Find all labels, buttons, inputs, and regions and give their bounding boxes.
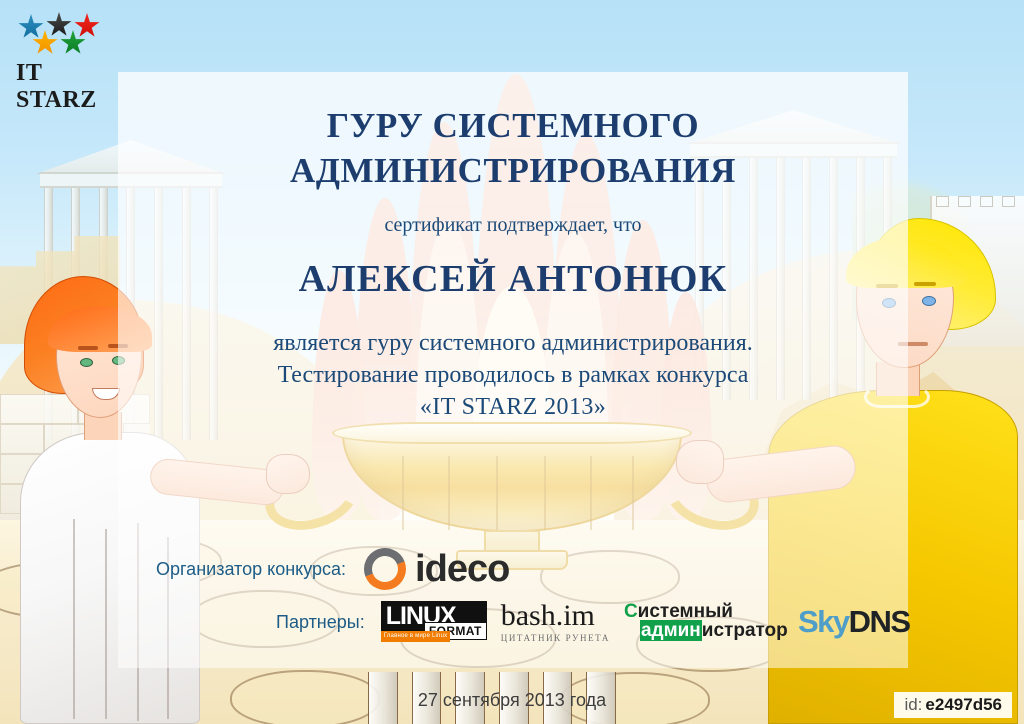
toga-fold <box>73 519 75 719</box>
linux-tagline: Главное в мире Linux <box>381 631 451 642</box>
partner-logos: LINUX FORMAT Главное в мире Linux bash.i… <box>381 601 910 643</box>
crenellation <box>958 196 971 207</box>
it-starz-logo: IT STARZ <box>16 12 120 96</box>
brand-name-text: IT STARZ <box>16 60 120 114</box>
right-figure-eyebrow <box>914 282 936 286</box>
left-figure-eye <box>80 358 93 367</box>
organizer-label: Организатор конкурса: <box>156 559 346 580</box>
crenellation <box>936 196 949 207</box>
sysadmin-line-1: Системный <box>624 602 776 621</box>
certificate-date: 27 сентября 2013 года <box>0 690 1024 711</box>
sistemnyy-administrator-logo[interactable]: Системный администратор <box>624 602 776 642</box>
partners-row: Партнеры: LINUX FORMAT Главное в мире Li… <box>276 602 910 642</box>
certificate-canvas: IT STARZ ГУРУ СИСТЕМНОГО АДМИНИСТРИРОВАН… <box>0 0 1024 724</box>
bash-wordmark: bash.im <box>501 601 595 631</box>
sysadmin-line-2: администратор <box>640 621 776 640</box>
ideco-swirl-icon <box>364 548 406 590</box>
certificate-body: является гуру системного администрирован… <box>118 327 908 424</box>
linux-format-logo[interactable]: LINUX FORMAT Главное в мире Linux <box>381 601 487 643</box>
ideco-wordmark: ideco <box>415 548 509 591</box>
skydns-dns-text: DNS <box>849 604 910 639</box>
contest-name: «IT STARZ 2013» <box>118 391 908 423</box>
logo-stars <box>16 12 112 56</box>
star-blue-icon <box>18 14 44 40</box>
certificate-id-value: e2497d56 <box>925 695 1002 714</box>
sysadmin-line-1-green: С <box>624 601 638 622</box>
star-red-icon <box>74 13 100 39</box>
right-figure-eye <box>922 296 936 306</box>
bash-im-logo[interactable]: bash.im ЦИТАТНИК РУНЕТА <box>501 601 610 643</box>
ideco-ring-orange <box>357 541 412 596</box>
sysadmin-line-2-green: админ <box>640 620 702 641</box>
certificate-body-line-2: Тестирование проводилось в рамках конкур… <box>118 359 908 391</box>
sysadmin-line-2-rest: истратор <box>702 620 788 641</box>
ideco-logo[interactable]: ideco <box>364 548 509 591</box>
certificate-id-label: id: <box>904 695 922 714</box>
organizer-row: Организатор конкурса: ideco <box>156 548 509 590</box>
star-black-icon <box>46 12 72 38</box>
certificate-title-line-2: АДМИНИСТРИРОВАНИЯ <box>118 149 908 194</box>
left-figure-eyebrow <box>78 346 98 350</box>
crenellation <box>1002 196 1015 207</box>
partners-label: Партнеры: <box>276 612 365 633</box>
certificate-subtitle: сертификат подтверждает, что <box>118 214 908 237</box>
certificate-title: ГУРУ СИСТЕМНОГО АДМИНИСТРИРОВАНИЯ <box>118 104 908 194</box>
certificate-title-line-1: ГУРУ СИСТЕМНОГО <box>118 104 908 149</box>
bash-subtitle: ЦИТАТНИК РУНЕТА <box>501 633 610 643</box>
crenellation <box>980 196 993 207</box>
certificate-body-line-1: является гуру системного администрирован… <box>118 327 908 359</box>
skydns-logo[interactable]: SkyDNS <box>798 604 910 640</box>
sysadmin-line-1-rest: истемный <box>638 601 733 622</box>
skydns-sky-text: Sky <box>798 604 849 639</box>
certificate-id-badge: id:e2497d56 <box>894 692 1012 718</box>
recipient-name: АЛЕКСЕЙ АНТОНЮК <box>118 257 908 301</box>
